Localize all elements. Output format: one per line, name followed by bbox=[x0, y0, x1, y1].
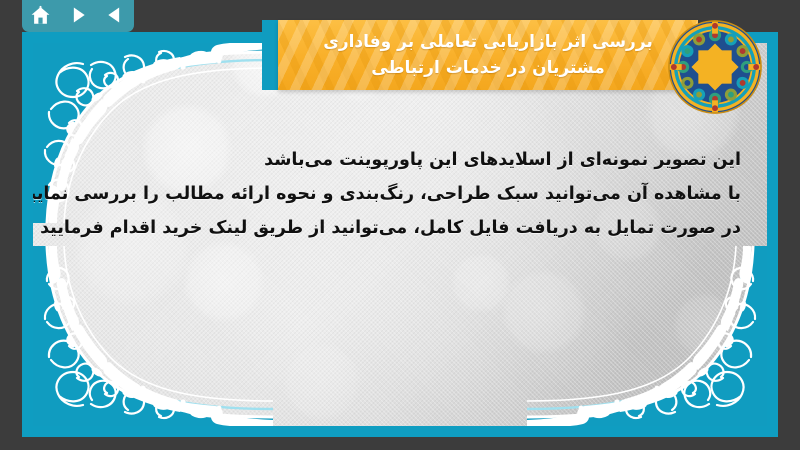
arabesque-corner-bottom-right bbox=[527, 246, 767, 426]
triangle-right-icon bbox=[68, 5, 88, 25]
presentation-slide: این تصویر نمونه‌ای از اسلایدهای این پاور… bbox=[22, 32, 778, 437]
title-line-1: بررسی اثر بازاریابی تعاملی بر وفاداری bbox=[323, 29, 653, 55]
forward-button[interactable] bbox=[64, 2, 92, 28]
slide-body-text: این تصویر نمونه‌ای از اسلایدهای این پاور… bbox=[33, 143, 741, 245]
bokeh-circle bbox=[501, 269, 587, 355]
slide-title-banner: بررسی اثر بازاریابی تعاملی بر وفاداری مش… bbox=[278, 20, 698, 90]
bokeh-circle bbox=[673, 293, 737, 357]
body-line-1: این تصویر نمونه‌ای از اسلایدهای این پاور… bbox=[33, 143, 741, 177]
ornamental-medallion bbox=[666, 18, 764, 116]
body-line-3: در صورت تمایل به دریافت فایل کامل، می‌تو… bbox=[33, 211, 741, 245]
navigation-toolbar bbox=[22, 0, 134, 32]
back-button[interactable] bbox=[101, 2, 129, 28]
bokeh-circle bbox=[283, 343, 361, 421]
bokeh-circle bbox=[451, 253, 511, 313]
title-line-2: مشتریان در خدمات ارتباطی bbox=[371, 55, 604, 81]
triangle-left-icon bbox=[105, 5, 125, 25]
bokeh-circle bbox=[183, 241, 265, 323]
slide-viewer: این تصویر نمونه‌ای از اسلایدهای این پاور… bbox=[0, 0, 800, 450]
slide-canvas: این تصویر نمونه‌ای از اسلایدهای این پاور… bbox=[33, 43, 767, 426]
arabesque-corner-bottom-left bbox=[33, 246, 273, 426]
home-button[interactable] bbox=[27, 2, 55, 28]
home-icon bbox=[30, 5, 51, 26]
body-line-2: با مشاهده آن می‌توانید سبک طراحی، رنگ‌بن… bbox=[33, 177, 741, 211]
